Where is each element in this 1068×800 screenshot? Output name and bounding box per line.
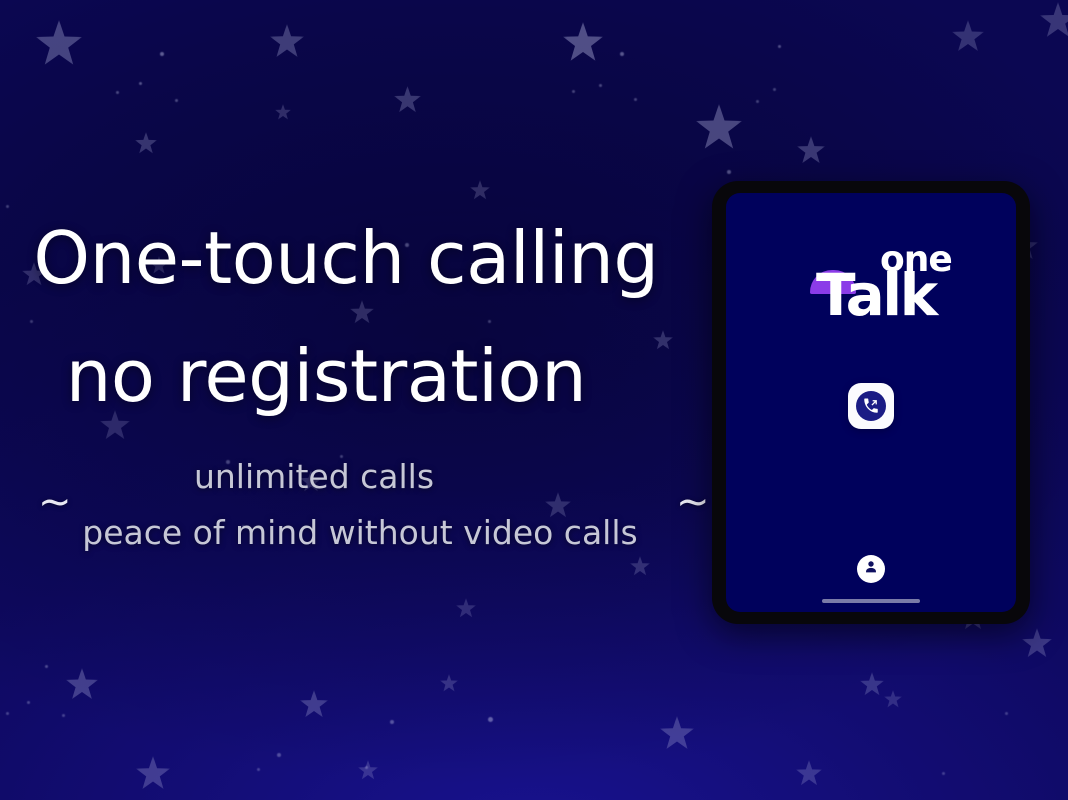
phone-outgoing-icon: [856, 391, 886, 421]
headline-line-1: One-touch calling: [0, 222, 706, 294]
tablet-screen: Talk one: [726, 193, 1016, 612]
tilde-ornament-left: ~: [38, 482, 72, 522]
profile-button[interactable]: [857, 555, 885, 583]
subtitle-line-1: unlimited calls: [0, 460, 674, 493]
call-button[interactable]: [848, 383, 894, 429]
logo-top-word: one: [880, 242, 952, 278]
subtitle-line-2: peace of mind without video calls: [0, 516, 720, 549]
home-indicator-bar: [822, 599, 920, 603]
headline-line-2: no registration: [0, 340, 686, 412]
promo-screenshot: One-touch calling no registration unlimi…: [0, 0, 1068, 800]
tilde-ornament-right: ~: [676, 482, 710, 522]
person-circle-icon: [862, 558, 880, 580]
tablet-device-mockup: Talk one: [712, 181, 1030, 624]
app-logo: Talk one: [726, 248, 1016, 334]
